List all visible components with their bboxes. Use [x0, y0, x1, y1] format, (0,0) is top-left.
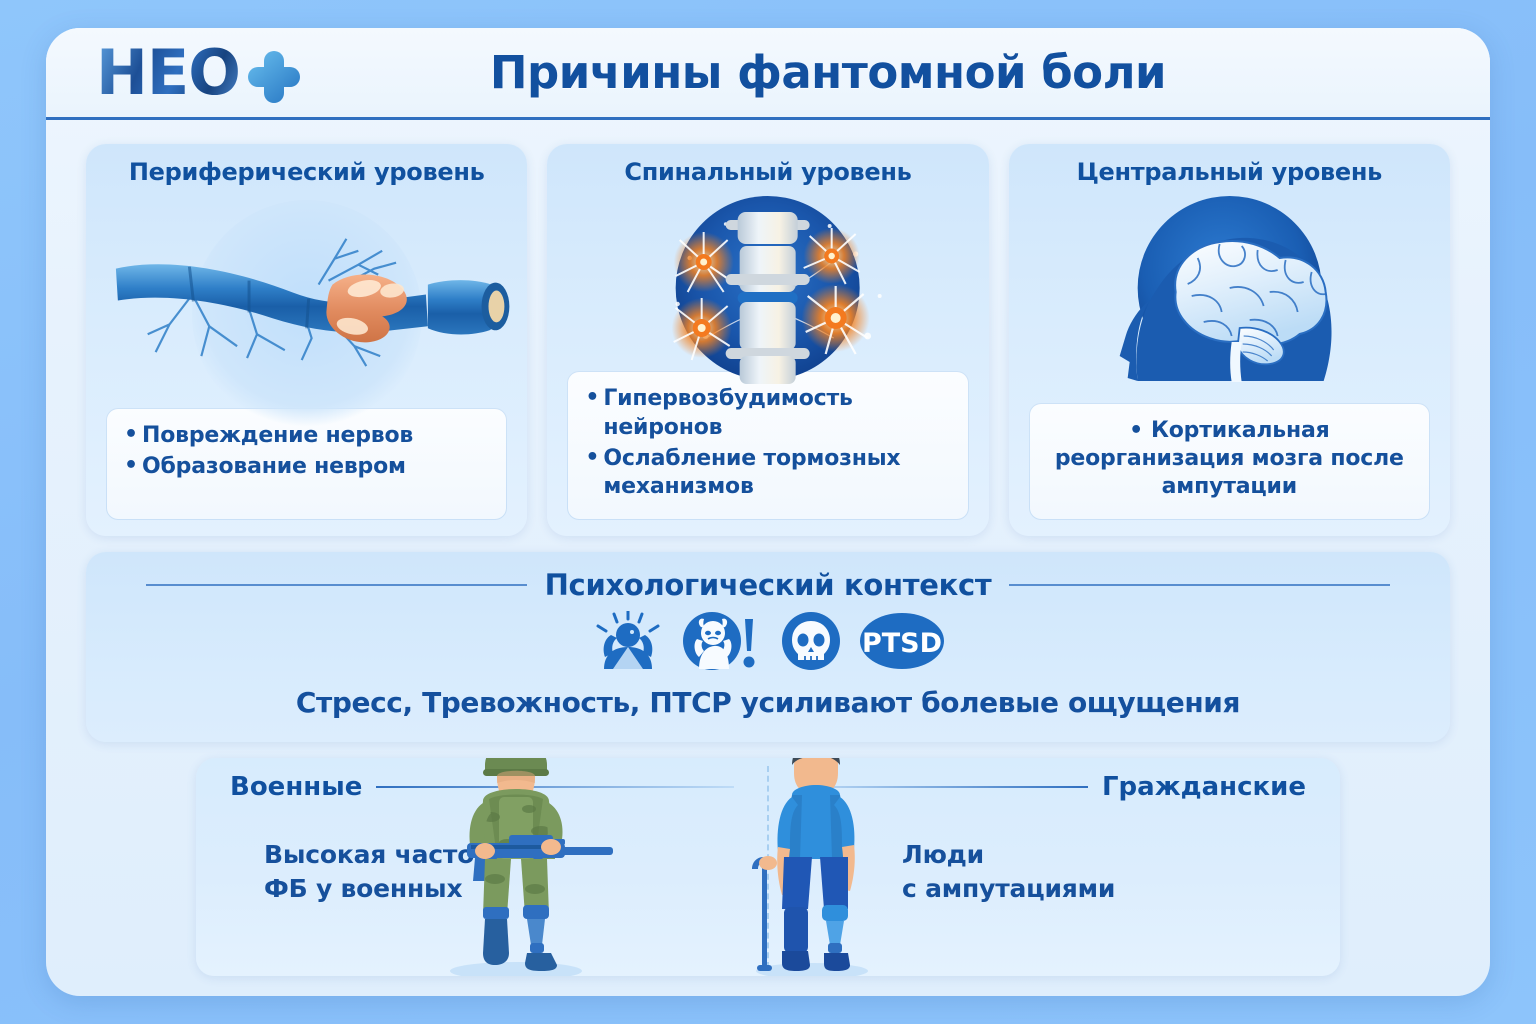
psychological-context-panel: Психологический контекст: [86, 552, 1450, 742]
plus-icon: [246, 48, 302, 104]
group-title: Гражданские: [1102, 772, 1306, 802]
affected-groups-panel: Военные Высокая частота ФБ у военных: [196, 758, 1340, 976]
psychological-context-caption: Стресс, Тревожность, ПТСР усиливают боле…: [296, 686, 1240, 719]
spine-with-neurons-illustration: [559, 192, 976, 371]
infographic-poster: НЕО Причины фантомной боли Периферически…: [46, 28, 1490, 996]
group-civilian: Гражданские Люди с ампутациями: [768, 758, 1340, 976]
stressed-person-icon: [591, 611, 665, 676]
section-title: Психологический контекст: [545, 568, 992, 602]
psychological-icons-row: PTSD: [591, 612, 945, 674]
list-item: Гипервозбудимость нейронов: [583, 385, 952, 441]
level-card-title: Центральный уровень: [1077, 158, 1382, 186]
brand-logo: НЕО: [96, 46, 346, 106]
brand-logo-text: НЕО: [96, 42, 240, 104]
list-item: Кортикальная реорганизация мозга после а…: [1045, 417, 1414, 501]
ptsd-badge-icon: PTSD: [859, 612, 945, 675]
level-card-peripheral: Периферический уровень: [86, 144, 527, 536]
level-card-title: Спинальный уровень: [624, 158, 911, 186]
psychological-context-heading: Психологический контекст: [86, 568, 1450, 602]
group-military: Военные Высокая частота ФБ у военных: [196, 758, 768, 976]
level-card-spinal: Спинальный уровень: [547, 144, 988, 536]
group-title: Военные: [230, 772, 362, 802]
list-item: Образование невром: [122, 453, 491, 481]
list-item: Ослабление тормозных механизмов: [583, 445, 952, 501]
poster-header: НЕО Причины фантомной боли: [46, 28, 1490, 120]
levels-row: Периферический уровень: [86, 144, 1450, 536]
level-card-bullets: Гипервозбудимость нейронов Ослабление то…: [567, 371, 968, 520]
skull-icon: [781, 611, 841, 676]
brain-head-profile-illustration: [1021, 192, 1438, 403]
level-card-bullets: Повреждение нервов Образование невром: [106, 408, 507, 520]
list-item: Повреждение нервов: [122, 422, 491, 450]
anxious-person-exclamation-icon: [683, 611, 763, 676]
soldier-with-prosthetic-leg-figure: [411, 758, 621, 976]
level-card-bullets: Кортикальная реорганизация мозга после а…: [1029, 403, 1430, 520]
level-card-central: Центральный уровень: [1009, 144, 1450, 536]
level-card-title: Периферический уровень: [129, 158, 485, 186]
ptsd-badge-label: PTSD: [862, 628, 942, 659]
divider-right: [1009, 584, 1390, 586]
nerve-with-neuroma-illustration: [98, 192, 515, 408]
civilian-with-cane-and-prosthetic-leg-figure: [708, 758, 898, 976]
divider-left: [146, 584, 527, 586]
